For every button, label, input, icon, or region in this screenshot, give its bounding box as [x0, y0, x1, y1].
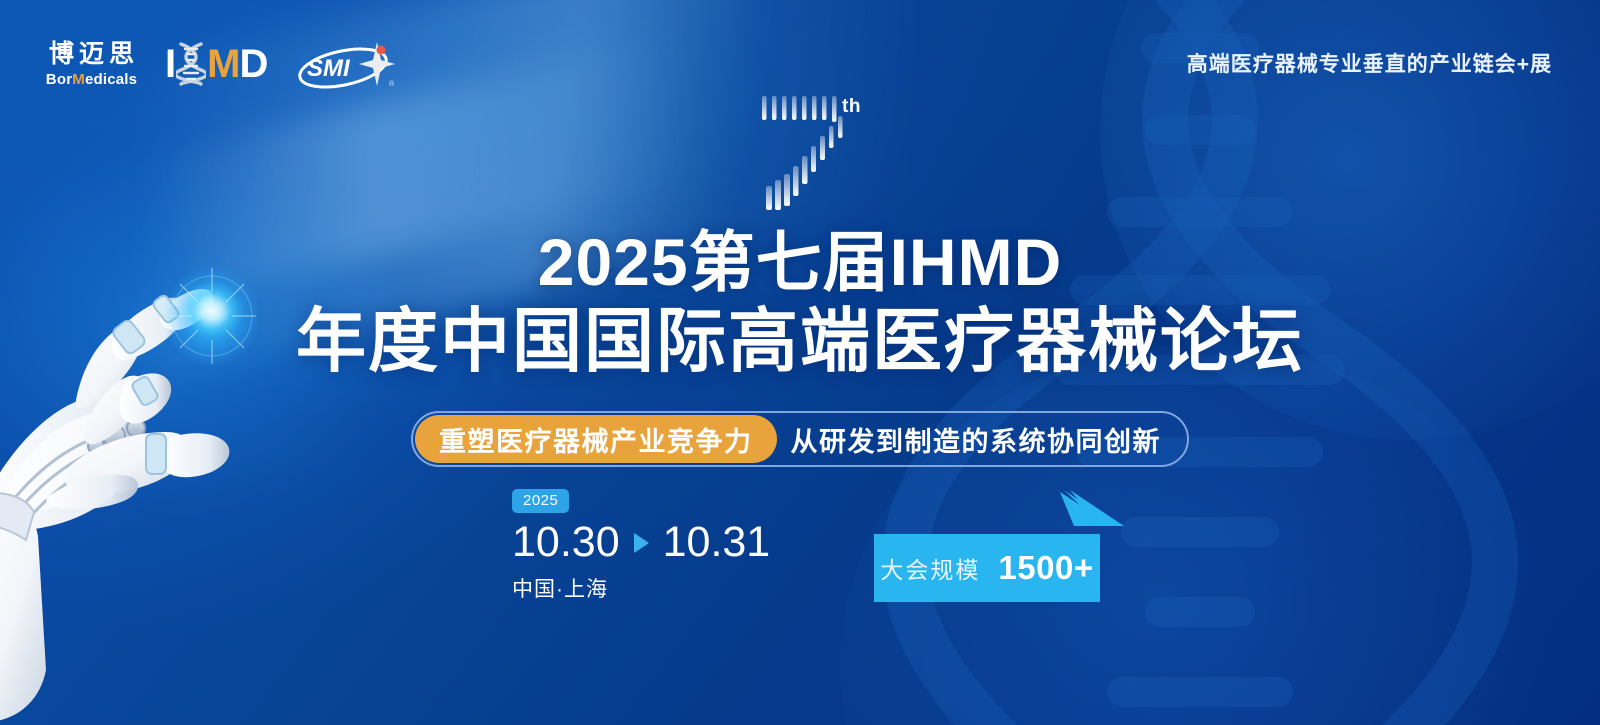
heartbeat-m-icon: M: [72, 71, 85, 88]
header-tagline: 高端医疗器械专业垂直的产业链会+展: [1187, 48, 1552, 78]
date-end: 10.31: [663, 521, 771, 564]
logo-bor-suffix: edicals: [85, 71, 137, 88]
date-block: 2025 10.30 10.31 中国·上海: [512, 489, 770, 603]
scale-banner-text: 大会规模 1500+: [874, 534, 1100, 602]
scale-banner: 大会规模 1500+: [874, 490, 1124, 602]
scale-value: 1500+: [998, 549, 1093, 587]
date-start: 10.30: [512, 521, 620, 564]
logo-ihmd-letter-m: M: [207, 44, 239, 84]
play-arrow-icon: [634, 533, 649, 553]
title-line-1: 2025第七届IHMD: [0, 228, 1600, 298]
logo-smi-registered: ®: [389, 80, 395, 88]
title-line-2: 年度中国国际高端医疗器械论坛: [0, 302, 1600, 380]
logo-smi[interactable]: SMI ®: [293, 38, 397, 90]
logo-smi-text: SMI: [307, 55, 351, 82]
logo-ihmd-letter-d: D: [239, 44, 267, 84]
logo-bor-prefix: Bor: [46, 71, 72, 88]
logo-ihmd[interactable]: I M D: [165, 42, 267, 86]
subtitle-pill-text: 重塑医疗器械产业竞争力: [439, 420, 753, 459]
subtitle-pill: 重塑医疗器械产业竞争力: [415, 415, 777, 463]
dna-helix-icon: [176, 42, 206, 86]
page-title: 2025第七届IHMD 年度中国国际高端医疗器械论坛: [0, 228, 1600, 380]
scale-label: 大会规模: [880, 551, 980, 585]
logo-bormedicals-chinese: 博迈思: [44, 42, 139, 67]
logo-group: 博迈思 BorMedicals I M D: [44, 38, 397, 90]
event-location: 中国·上海: [512, 573, 770, 603]
edition-suffix: th: [842, 96, 861, 118]
banner-stage: 博迈思 BorMedicals I M D: [0, 0, 1600, 725]
logo-bormedicals[interactable]: 博迈思 BorMedicals: [44, 42, 139, 87]
logo-bormedicals-english: BorMedicals: [46, 72, 137, 87]
year-badge: 2025: [512, 489, 569, 513]
subtitle-capsule: 重塑医疗器械产业竞争力 从研发到制造的系统协同创新: [411, 411, 1189, 467]
date-range-row: 10.30 10.31: [512, 521, 770, 564]
logo-ihmd-letter-i: I: [165, 44, 175, 84]
subtitle-row: 重塑医疗器械产业竞争力 从研发到制造的系统协同创新: [0, 411, 1600, 467]
subtitle-tail-text: 从研发到制造的系统协同创新: [791, 420, 1162, 459]
